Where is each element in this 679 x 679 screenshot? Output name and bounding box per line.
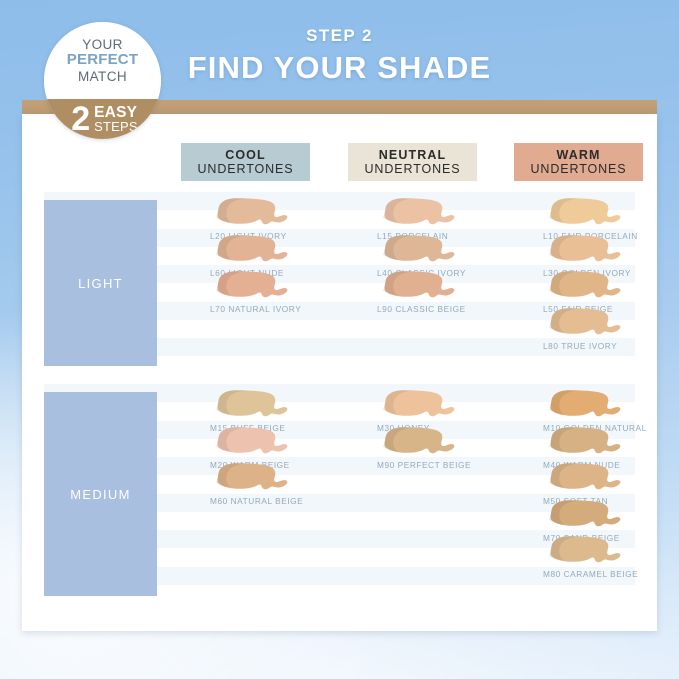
shade-swatch-icon xyxy=(543,196,627,229)
shade-swatch-icon xyxy=(377,233,461,266)
shade-swatch-icon xyxy=(210,269,294,302)
perfect-match-badge: YOUR PERFECT MATCH 2 EASY STEPS xyxy=(44,22,161,139)
shade-swatch-icon xyxy=(210,388,294,421)
shade-swatch-icon xyxy=(543,498,627,531)
column-header-warm: WARMUNDERTONES xyxy=(514,143,643,181)
shade-swatch-icon xyxy=(543,306,627,339)
badge-line-3: MATCH xyxy=(78,69,127,84)
badge-step-number: 2 xyxy=(71,102,90,136)
shade-swatch-icon xyxy=(543,461,627,494)
shade-cell[interactable]: L90 CLASSIC BEIGE xyxy=(377,269,466,314)
shade-swatch-icon xyxy=(377,425,461,458)
shade-swatch-icon xyxy=(543,388,627,421)
shade-name-label: M60 NATURAL BEIGE xyxy=(210,496,303,506)
column-header-title: NEUTRAL xyxy=(379,148,446,162)
shade-swatch-icon xyxy=(543,269,627,302)
column-header-title: COOL xyxy=(225,148,266,162)
column-header-subtitle: UNDERTONES xyxy=(197,162,293,176)
badge-steps-label: STEPS xyxy=(94,120,138,133)
shade-swatch-icon xyxy=(210,461,294,494)
shade-swatch-icon xyxy=(543,534,627,567)
shade-swatch-icon xyxy=(377,388,461,421)
group-label-text: LIGHT xyxy=(78,276,123,291)
shade-name-label: L70 NATURAL IVORY xyxy=(210,304,301,314)
group-label-medium: MEDIUM xyxy=(44,392,157,596)
shade-cell[interactable]: L70 NATURAL IVORY xyxy=(210,269,301,314)
shade-swatch-icon xyxy=(377,196,461,229)
shade-cell[interactable]: M60 NATURAL BEIGE xyxy=(210,461,303,506)
shade-swatch-icon xyxy=(210,425,294,458)
shade-cell[interactable]: M80 CARAMEL BEIGE xyxy=(543,534,638,579)
badge-line-1: YOUR xyxy=(82,37,123,52)
badge-bottom: 2 EASY STEPS xyxy=(44,99,161,139)
column-header-cool: COOLUNDERTONES xyxy=(181,143,310,181)
shade-cell[interactable]: L80 TRUE IVORY xyxy=(543,306,627,351)
shade-name-label: L90 CLASSIC BEIGE xyxy=(377,304,466,314)
shade-swatch-icon xyxy=(543,425,627,458)
shade-name-label: M80 CARAMEL BEIGE xyxy=(543,569,638,579)
shade-swatch-icon xyxy=(210,196,294,229)
shade-swatch-icon xyxy=(377,269,461,302)
shade-cell[interactable]: M90 PERFECT BEIGE xyxy=(377,425,471,470)
group-label-light: LIGHT xyxy=(44,200,157,366)
shade-swatch-icon xyxy=(543,233,627,266)
shade-swatch-icon xyxy=(210,233,294,266)
column-header-subtitle: UNDERTONES xyxy=(530,162,626,176)
badge-top: YOUR PERFECT MATCH xyxy=(44,22,161,99)
column-header-neutral: NEUTRALUNDERTONES xyxy=(348,143,477,181)
badge-line-2: PERFECT xyxy=(67,52,138,69)
badge-easy-label: EASY xyxy=(94,105,138,121)
shade-name-label: L80 TRUE IVORY xyxy=(543,341,627,351)
column-header-title: WARM xyxy=(557,148,601,162)
group-label-text: MEDIUM xyxy=(70,487,131,502)
shade-name-label: M90 PERFECT BEIGE xyxy=(377,460,471,470)
column-header-subtitle: UNDERTONES xyxy=(364,162,460,176)
